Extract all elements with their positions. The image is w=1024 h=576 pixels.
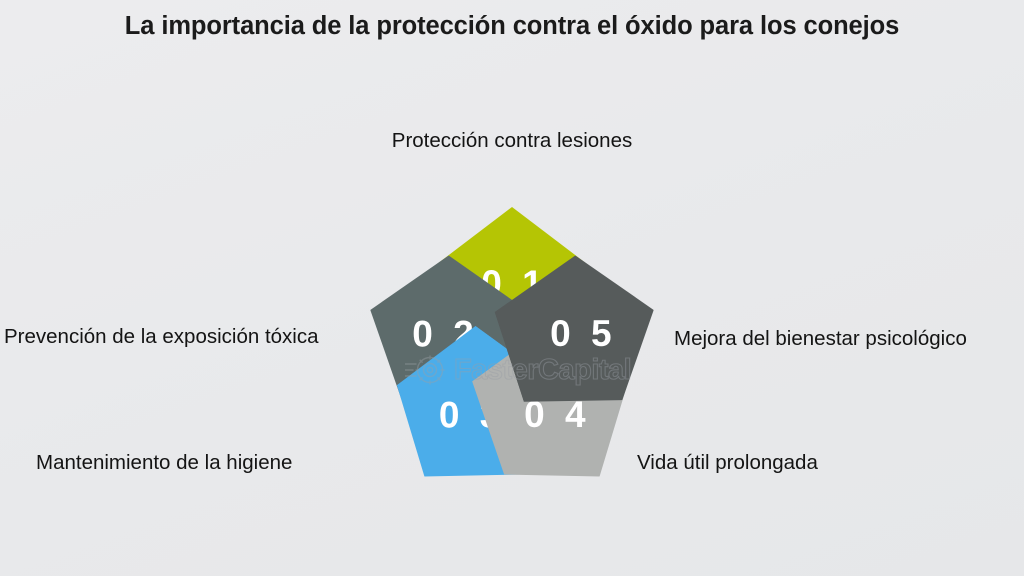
segment-label-04: Vida útil prolongada <box>637 448 967 477</box>
segment-label-02: Prevención de la exposición tóxica <box>4 322 324 351</box>
pentagon-number-04: 0 4 <box>519 397 590 434</box>
segment-label-01: Protección contra lesiones <box>0 126 1024 155</box>
segment-label-03: Mantenimiento de la higiene <box>36 448 356 477</box>
pentagon-number-05: 0 5 <box>546 315 617 352</box>
slide-canvas: La importancia de la protección contra e… <box>0 0 1024 576</box>
page-title: La importancia de la protección contra e… <box>0 12 1024 41</box>
segment-label-05: Mejora del bienestar psicológico <box>674 324 1004 353</box>
